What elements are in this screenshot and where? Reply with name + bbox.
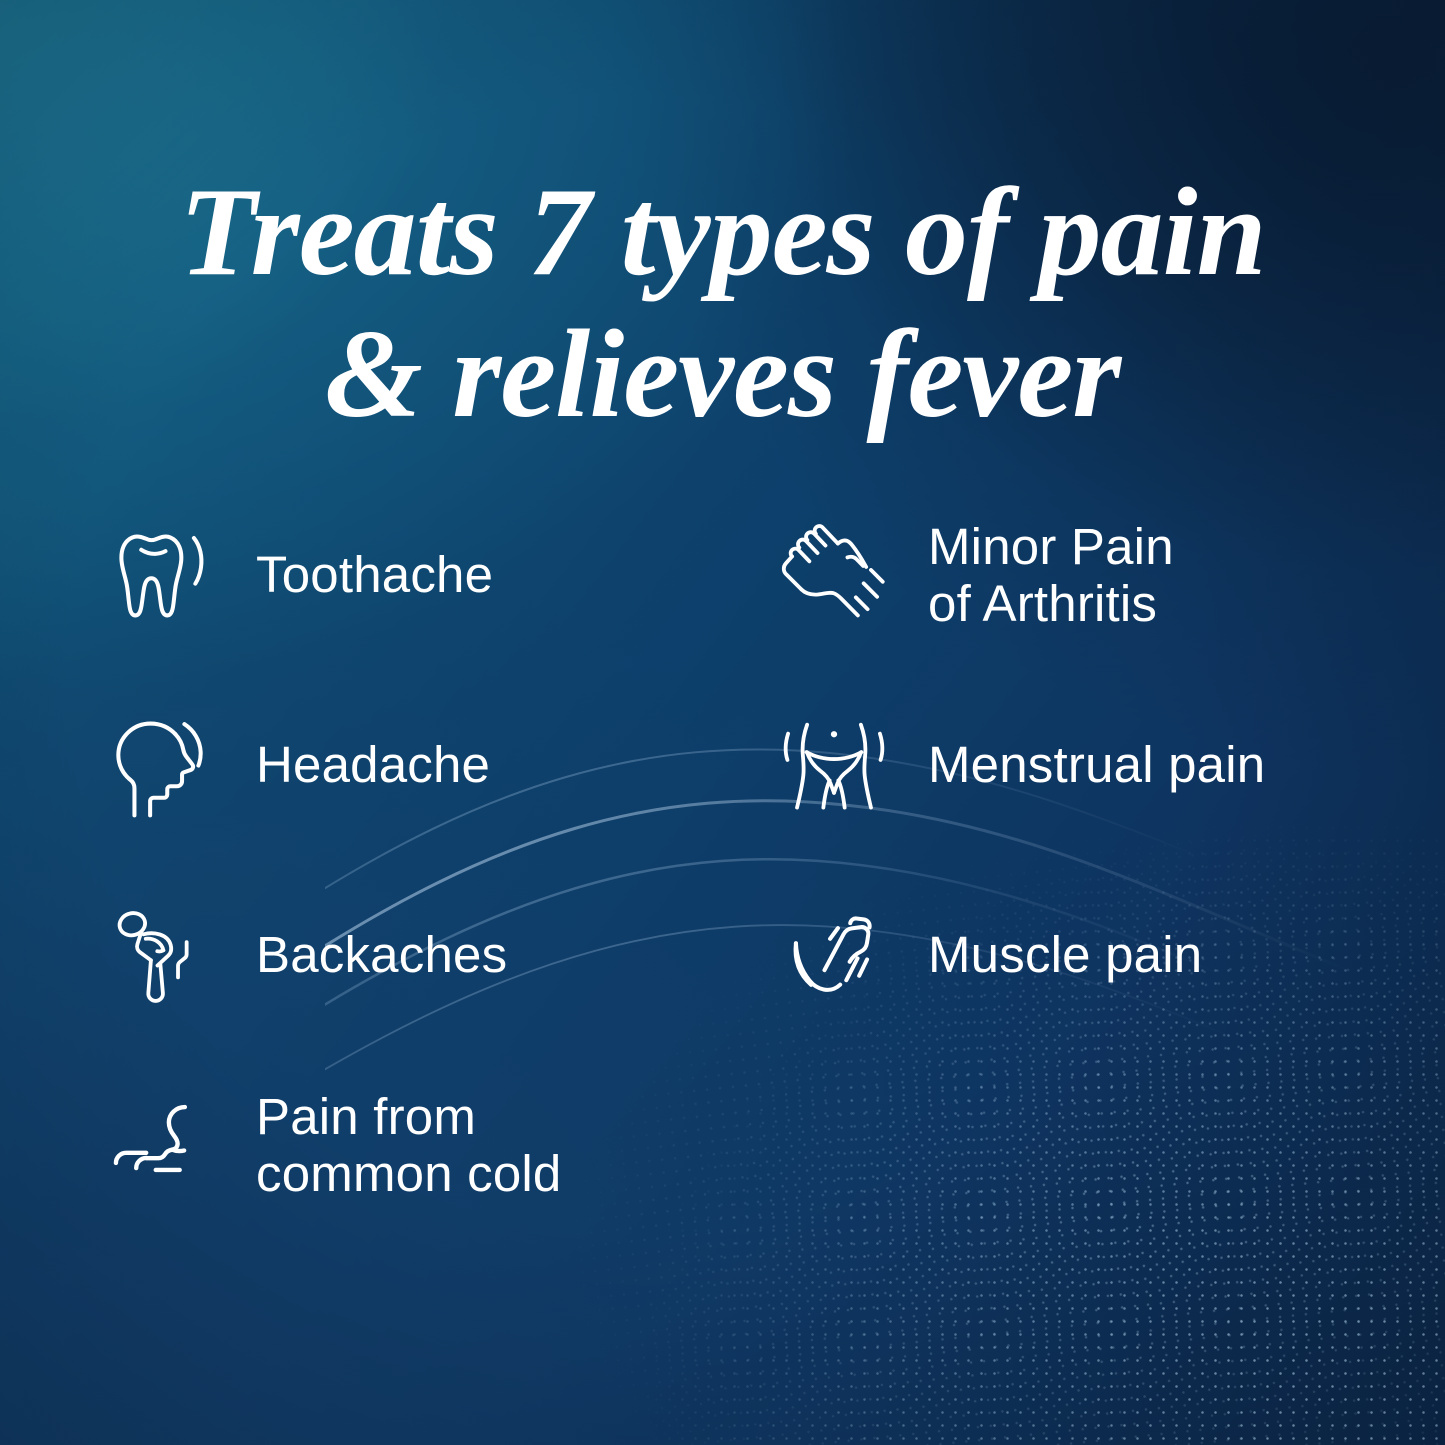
- list-item-menstrual: Menstrual pain: [746, 670, 1386, 860]
- list-item-label: Muscle pain: [928, 926, 1202, 983]
- page-title-line-1: Treats 7 types of pain: [52, 162, 1393, 303]
- list-item-label: Toothache: [256, 546, 493, 603]
- list-item-common-cold: Pain from common cold: [96, 1050, 736, 1240]
- lower-torso-icon: [768, 699, 900, 831]
- list-item-label: Pain from common cold: [256, 1088, 562, 1202]
- page-title-line-2: & relieves fever: [52, 304, 1393, 445]
- hands-icon: [768, 509, 900, 641]
- tooth-icon: [96, 509, 228, 641]
- list-item-headache: Headache: [96, 670, 736, 860]
- promo-banner: Treats 7 types of pain & relieves fever …: [0, 0, 1445, 1445]
- head-profile-icon: [96, 699, 228, 831]
- list-item-muscle: Muscle pain: [746, 860, 1386, 1050]
- list-item-label: Minor Pain of Arthritis: [928, 518, 1174, 632]
- list-item-label: Headache: [256, 736, 490, 793]
- list-item-label: Menstrual pain: [928, 736, 1265, 793]
- pain-types-list: Toothache: [96, 480, 1386, 1240]
- list-item-arthritis: Minor Pain of Arthritis: [746, 480, 1386, 670]
- list-item-toothache: Toothache: [96, 480, 736, 670]
- page-title: Treats 7 types of pain & relieves fever: [0, 162, 1445, 444]
- back-pain-icon: [96, 889, 228, 1021]
- list-item-backaches: Backaches: [96, 860, 736, 1050]
- flexed-arm-icon: [768, 889, 900, 1021]
- list-item-label: Backaches: [256, 926, 507, 983]
- sneeze-nose-icon: [96, 1079, 228, 1211]
